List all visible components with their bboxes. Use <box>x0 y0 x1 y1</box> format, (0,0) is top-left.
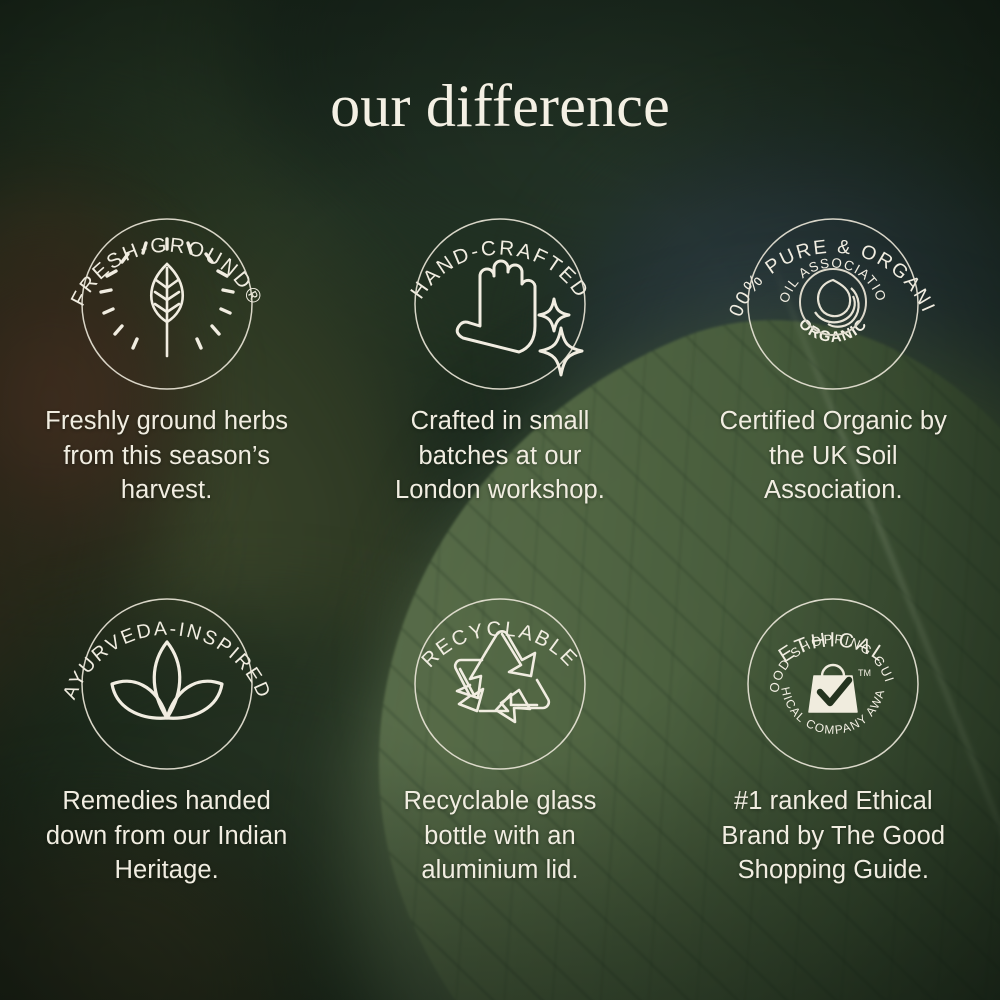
arc-label-recyclable: RECYCLABLE <box>417 617 583 672</box>
feature-recyclable[interactable]: RECYCLABLE Recyclable glass bottle with … <box>333 556 666 888</box>
badge-pure-and-organic[interactable]: 100% PURE & ORGANIC SOIL ASSOCIATION ORG… <box>718 176 948 392</box>
arc-label-hand-crafted: HAND-CRAFTED <box>406 236 594 303</box>
feature-caption: Freshly ground herbs from this season’s … <box>42 404 292 508</box>
feature-caption: Certified Organic by the UK Soil Associa… <box>708 404 958 508</box>
good-shopping-guide-award-icon: GOOD SHOPPING GUIDE ETHICAL COMPANY AWAR… <box>718 556 898 737</box>
feature-row: FRESH-GROUND® <box>0 176 1000 508</box>
feature-hand-crafted[interactable]: HAND-CRAFTED Crafted in small batches at… <box>333 176 666 508</box>
badge-ayurveda-inspired[interactable]: AYURVEDA-INSPIRED <box>52 556 282 772</box>
feature-caption: Remedies handed down from our Indian Her… <box>42 784 292 888</box>
feature-grid: FRESH-GROUND® <box>0 176 1000 888</box>
badge-fresh-ground[interactable]: FRESH-GROUND® <box>52 176 282 392</box>
arc-label-ayurveda-inspired: AYURVEDA-INSPIRED <box>58 618 275 703</box>
lotus-icon <box>112 642 222 718</box>
feature-pure-and-organic[interactable]: 100% PURE & ORGANIC SOIL ASSOCIATION ORG… <box>667 176 1000 508</box>
feature-caption: #1 ranked Ethical Brand by The Good Shop… <box>708 784 958 888</box>
feature-ethical[interactable]: ETHICAL GOOD SHOPPING GUIDE ETHICAL COMP… <box>667 556 1000 888</box>
badge-recyclable[interactable]: RECYCLABLE <box>385 556 615 772</box>
feature-caption: Crafted in small batches at our London w… <box>375 404 625 508</box>
arc-label-pure-and-organic: 100% PURE & ORGANIC <box>718 176 940 320</box>
feature-fresh-ground[interactable]: FRESH-GROUND® <box>0 176 333 508</box>
feature-row: AYURVEDA-INSPIRED Remedies handed down f… <box>0 556 1000 888</box>
trademark-mark: TM <box>858 668 871 678</box>
page-title: our difference <box>0 72 1000 141</box>
badge-ethical[interactable]: ETHICAL GOOD SHOPPING GUIDE ETHICAL COMP… <box>718 556 948 772</box>
feature-caption: Recyclable glass bottle with an aluminiu… <box>375 784 625 888</box>
badge-hand-crafted[interactable]: HAND-CRAFTED <box>385 176 615 392</box>
feature-ayurveda-inspired[interactable]: AYURVEDA-INSPIRED Remedies handed down f… <box>0 556 333 888</box>
